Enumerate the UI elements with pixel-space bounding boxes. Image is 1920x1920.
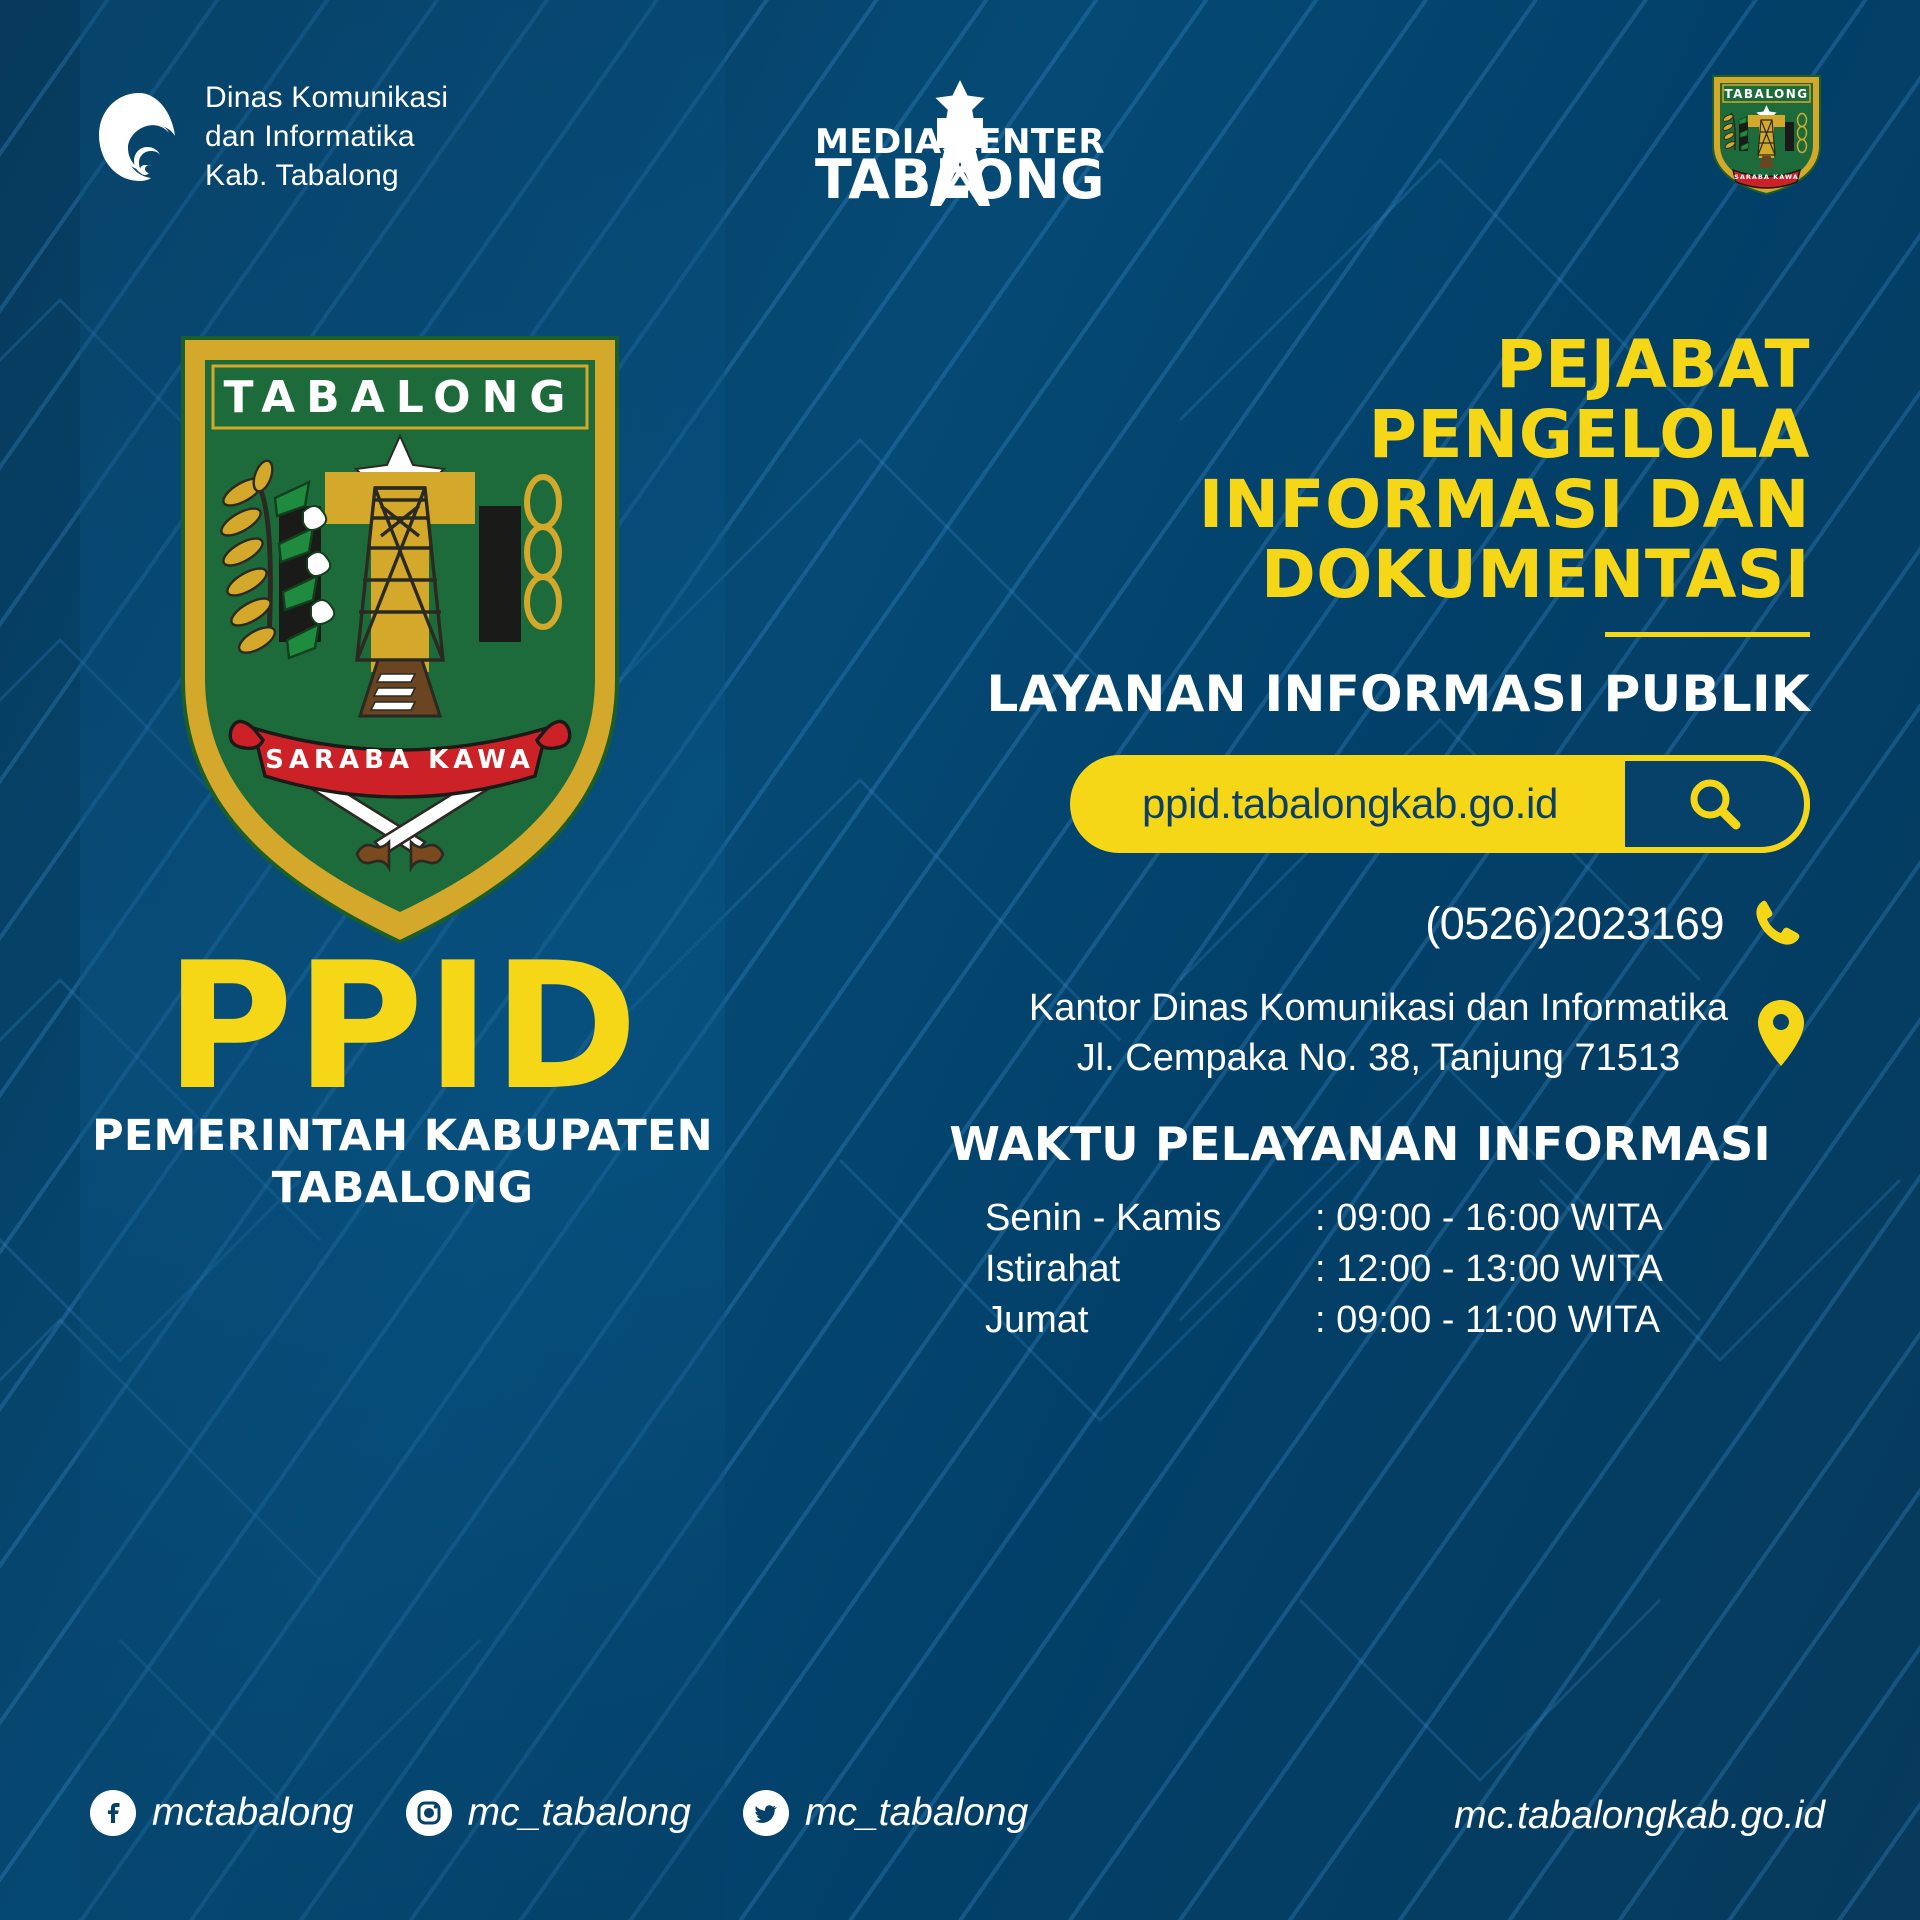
headline-line-3: INFORMASI DAN: [900, 470, 1810, 540]
hours-time: : 09:00 - 11:00 WITA: [1315, 1295, 1745, 1346]
hours-time: : 09:00 - 16:00 WITA: [1315, 1193, 1745, 1244]
phone-number: (0526)2023169: [1425, 898, 1724, 950]
svg-text:TABALONG: TABALONG: [1724, 87, 1808, 101]
service-hours-title: WAKTU PELAYANAN INFORMASI: [900, 1117, 1830, 1171]
poster-header: Dinas Komunikasi dan Informatika Kab. Ta…: [0, 0, 1920, 250]
facebook-handle: mctabalong: [152, 1791, 354, 1835]
diskominfo-line-1: Dinas Komunikasi: [205, 78, 448, 117]
search-icon: [1684, 773, 1746, 835]
phone-icon: [1750, 895, 1808, 953]
svg-text:SARABA KAWA: SARABA KAWA: [265, 745, 535, 775]
address-line-1: Kantor Dinas Komunikasi dan Informatika: [1029, 983, 1728, 1033]
instagram-icon: [406, 1790, 452, 1836]
diskominfo-logo-block: Dinas Komunikasi dan Informatika Kab. Ta…: [95, 78, 448, 195]
government-name: PEMERINTAH KABUPATEN TABALONG: [80, 1110, 725, 1215]
diskominfo-wave-logo-icon: [95, 91, 183, 183]
website-url[interactable]: mc.tabalongkab.go.id: [1454, 1794, 1825, 1838]
search-bar[interactable]: ppid.tabalongkab.go.id: [1070, 755, 1810, 853]
divider: [1605, 632, 1810, 637]
right-info-column: PEJABAT PENGELOLA INFORMASI DAN DOKUMENT…: [900, 330, 1830, 1346]
gov-line-1: PEMERINTAH KABUPATEN: [80, 1110, 725, 1162]
service-hours-table: Senin - Kamis : 09:00 - 16:00 WITA Istir…: [985, 1193, 1745, 1346]
page-title: PEJABAT PENGELOLA INFORMASI DAN DOKUMENT…: [900, 330, 1830, 610]
long-word: LONG: [935, 154, 1105, 205]
map-pin-icon: [1754, 998, 1808, 1068]
tabalong-coat-of-arms-main-icon: TABALONG: [175, 330, 625, 950]
diskominfo-line-2: dan Informatika: [205, 117, 448, 156]
headline-line-2: PENGELOLA: [900, 400, 1810, 470]
headline-line-4: DOKUMENTASI: [900, 540, 1810, 610]
social-facebook[interactable]: mctabalong: [90, 1790, 354, 1836]
hours-day: Istirahat: [985, 1244, 1315, 1295]
ppid-poster: Dinas Komunikasi dan Informatika Kab. Ta…: [0, 0, 1920, 1920]
social-links: mctabalong mc_tabalong: [90, 1790, 1028, 1836]
address-row[interactable]: Kantor Dinas Komunikasi dan Informatika …: [900, 983, 1830, 1083]
svg-text:SARABA KAWA: SARABA KAWA: [1734, 173, 1799, 181]
gov-line-2: TABALONG: [80, 1162, 725, 1214]
diskominfo-line-3: Kab. Tabalong: [205, 156, 448, 195]
twitter-icon: [743, 1790, 789, 1836]
social-instagram[interactable]: mc_tabalong: [406, 1790, 691, 1836]
tab-word: TAB: [815, 154, 932, 205]
tabalong-coat-of-arms-small-icon: TABALONG: [1709, 72, 1824, 197]
twitter-handle: mc_tabalong: [805, 1791, 1028, 1835]
instagram-handle: mc_tabalong: [468, 1791, 691, 1835]
social-twitter[interactable]: mc_tabalong: [743, 1790, 1028, 1836]
media-center-row-2: TAB LONG: [815, 154, 1105, 205]
diskominfo-name: Dinas Komunikasi dan Informatika Kab. Ta…: [205, 78, 448, 195]
address-text: Kantor Dinas Komunikasi dan Informatika …: [1029, 983, 1728, 1083]
search-button[interactable]: [1625, 755, 1810, 853]
svg-text:TABALONG: TABALONG: [223, 372, 576, 423]
phone-row[interactable]: (0526)2023169: [900, 895, 1830, 953]
address-line-2: Jl. Cempaka No. 38, Tanjung 71513: [1029, 1033, 1728, 1083]
hours-time: : 12:00 - 13:00 WITA: [1315, 1244, 1745, 1295]
hours-day: Senin - Kamis: [985, 1193, 1315, 1244]
search-input[interactable]: ppid.tabalongkab.go.id: [1070, 755, 1630, 853]
subheading: LAYANAN INFORMASI PUBLIK: [900, 665, 1830, 723]
table-row: Senin - Kamis : 09:00 - 16:00 WITA: [985, 1193, 1745, 1244]
table-row: Istirahat : 12:00 - 13:00 WITA: [985, 1244, 1745, 1295]
headline-line-1: PEJABAT: [900, 330, 1810, 400]
ppid-title: PPID: [80, 940, 725, 1115]
hours-day: Jumat: [985, 1295, 1315, 1346]
media-center-logo: MEDIA CENTER TAB LONG: [815, 78, 1105, 198]
poster-footer: mctabalong mc_tabalong: [0, 1790, 1920, 1870]
table-row: Jumat : 09:00 - 11:00 WITA: [985, 1295, 1745, 1346]
facebook-icon: [90, 1790, 136, 1836]
